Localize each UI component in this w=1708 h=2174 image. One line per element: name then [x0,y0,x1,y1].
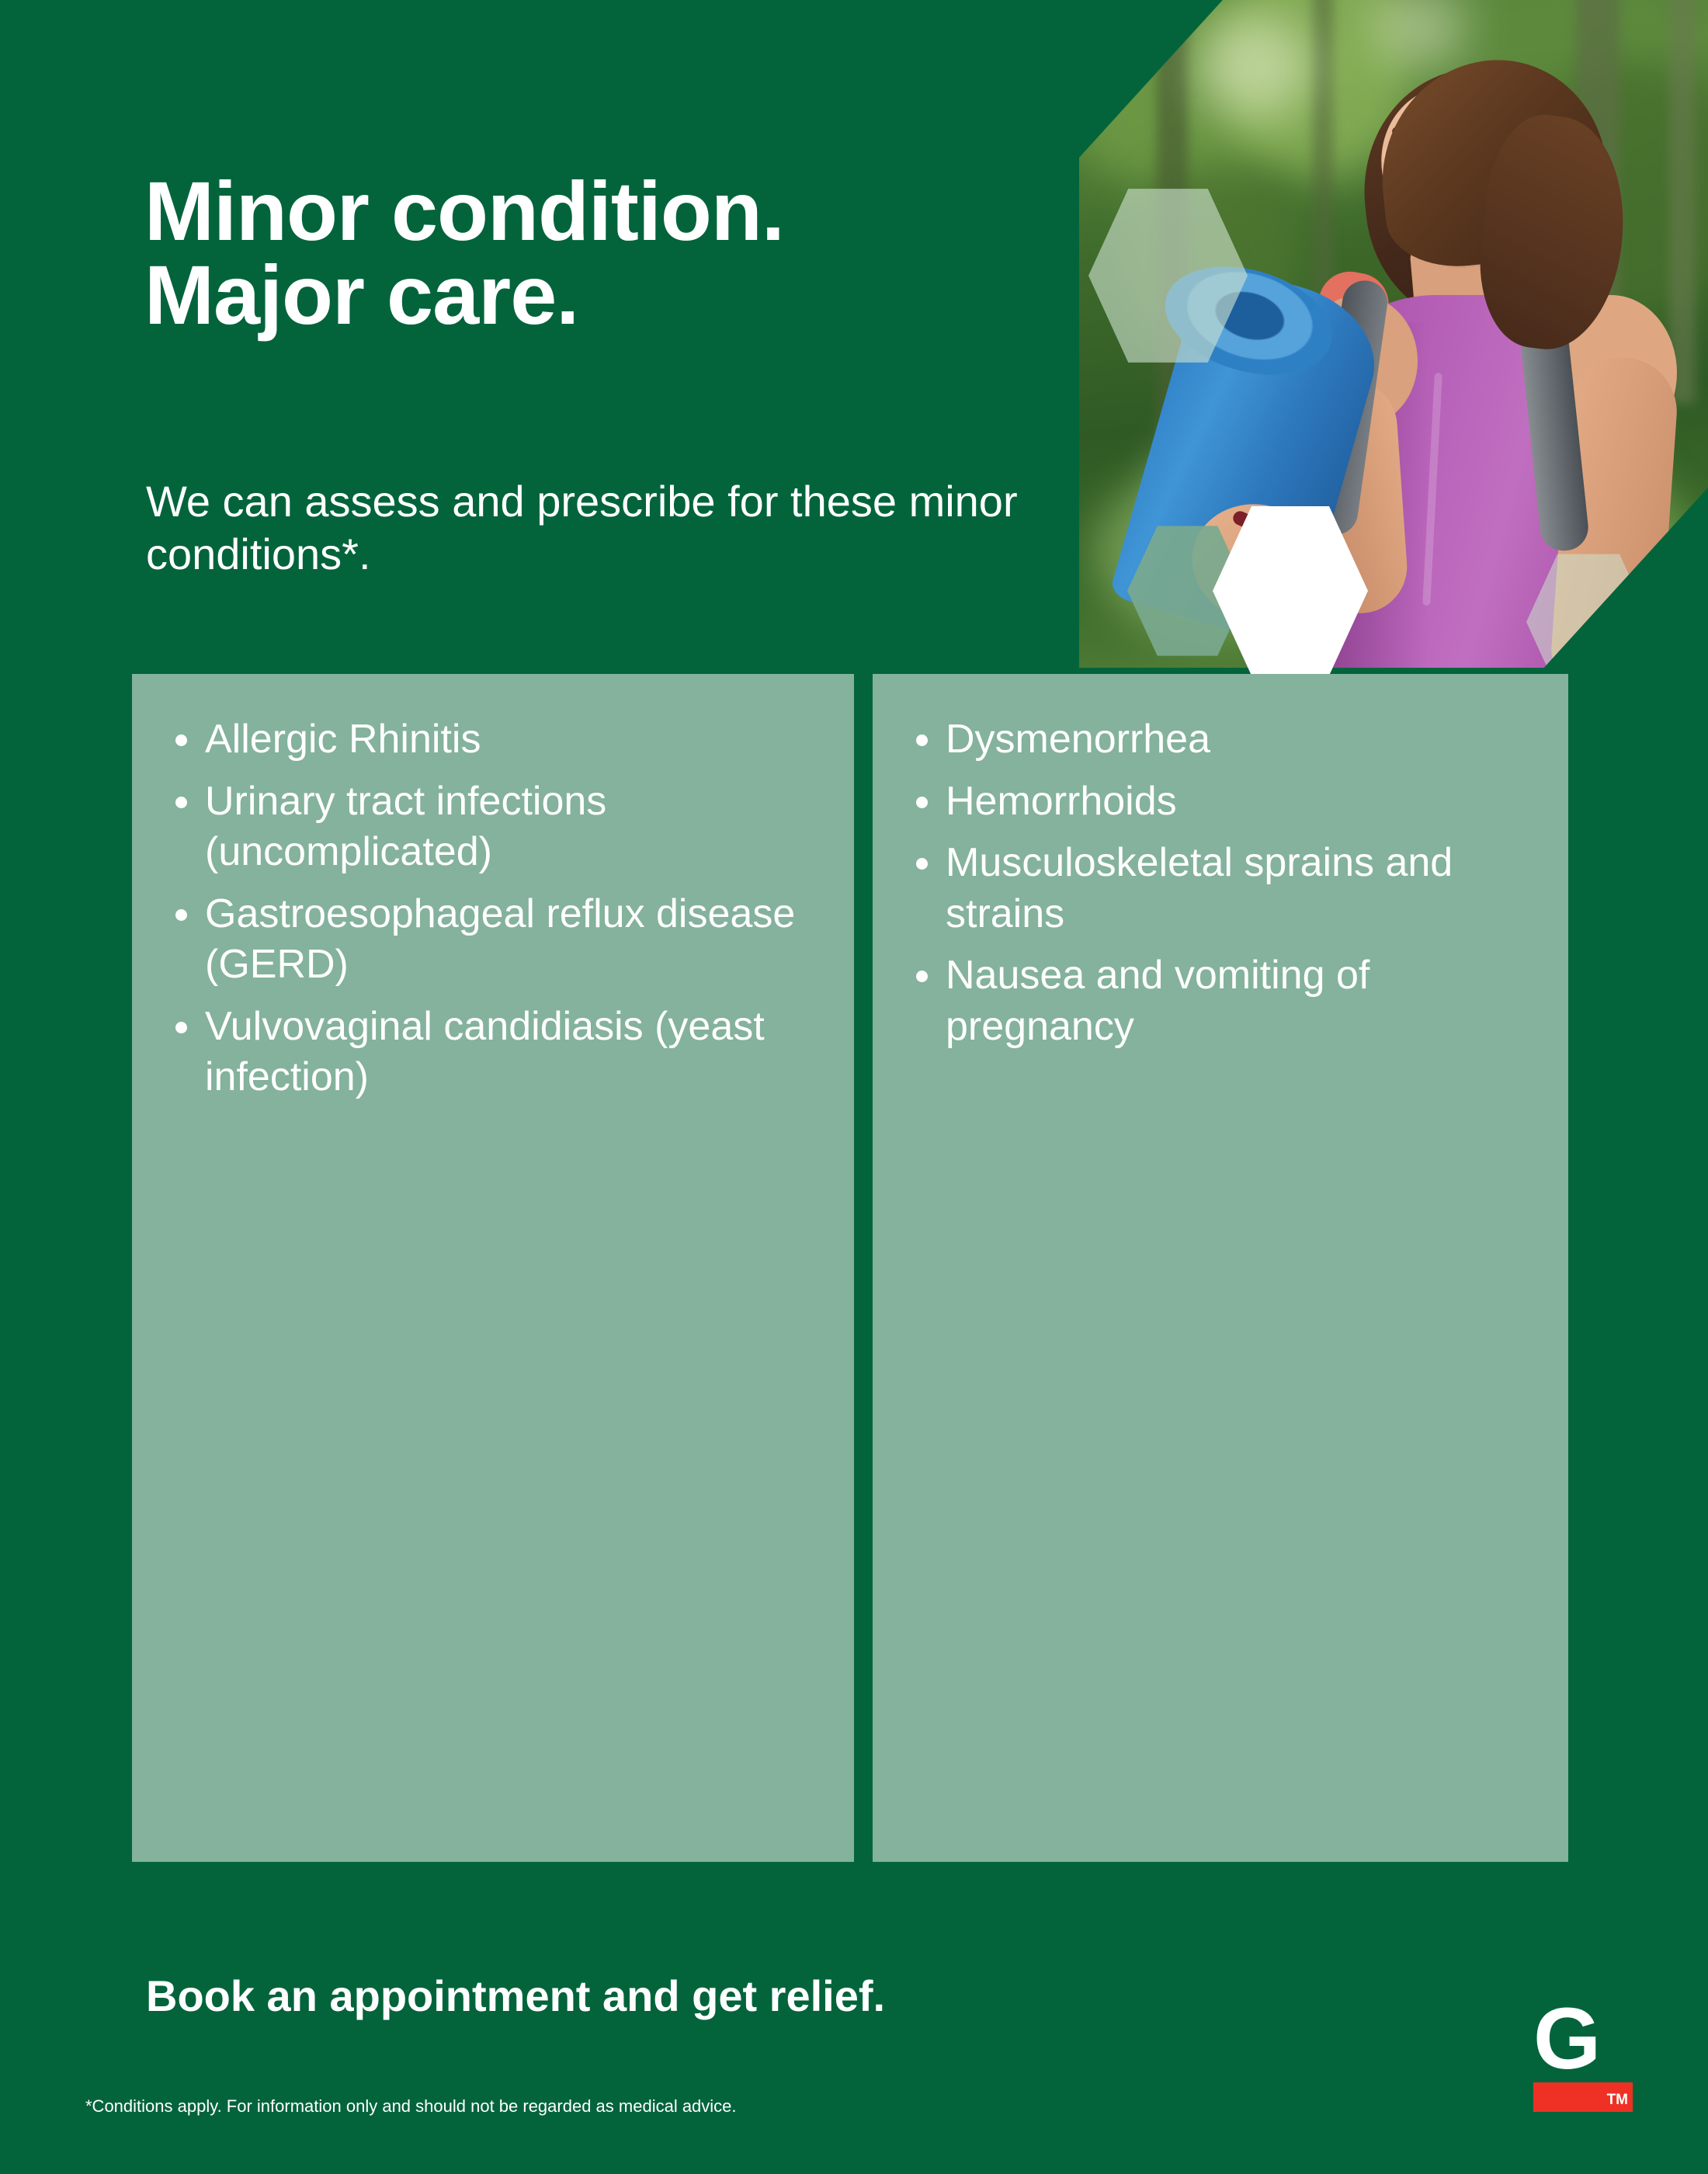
brand-logo: G TM [1533,2002,1636,2112]
headline-line-2: Major care. [144,253,784,337]
trademark-symbol: TM [1607,2092,1628,2107]
conditions-list-right: Dysmenorrhea Hemorrhoids Musculoskeletal… [908,714,1533,1052]
list-item: Hemorrhoids [908,776,1533,828]
conditions-list-left: Allergic Rhinitis Urinary tract infectio… [168,714,818,1103]
logo-letter: G [1533,2002,1636,2076]
disclaimer-text: *Conditions apply. For information only … [85,2096,737,2117]
list-item: Gastroesophageal reflux disease (GERD) [168,889,818,991]
list-item: Dysmenorrhea [908,714,1533,766]
sage-translucent-hexagon-lower-right [1526,550,1651,694]
hero-overlay-clip [1079,0,1708,668]
subheading: We can assess and prescribe for these mi… [146,475,1062,582]
headline-line-1: Minor condition. [144,169,784,253]
cta-text: Book an appointment and get relief. [146,1971,885,2021]
list-item: Vulvovaginal candidiasis (yeast infectio… [168,1002,818,1103]
list-item: Urinary tract infections (uncomplicated) [168,776,818,878]
list-item: Allergic Rhinitis [168,714,818,766]
list-item: Musculoskeletal sprains and strains [908,838,1533,939]
conditions-panel-right: Dysmenorrhea Hemorrhoids Musculoskeletal… [873,674,1568,1862]
page-title: Minor condition. Major care. [144,169,784,337]
list-item: Nausea and vomiting of pregnancy [908,950,1533,1052]
conditions-panels: Allergic Rhinitis Urinary tract infectio… [132,674,1568,1862]
poster-root: Minor condition. Major care. We can asse… [0,0,1708,2174]
logo-red-bar: TM [1533,2082,1633,2112]
conditions-panel-left: Allergic Rhinitis Urinary tract infectio… [132,674,854,1862]
